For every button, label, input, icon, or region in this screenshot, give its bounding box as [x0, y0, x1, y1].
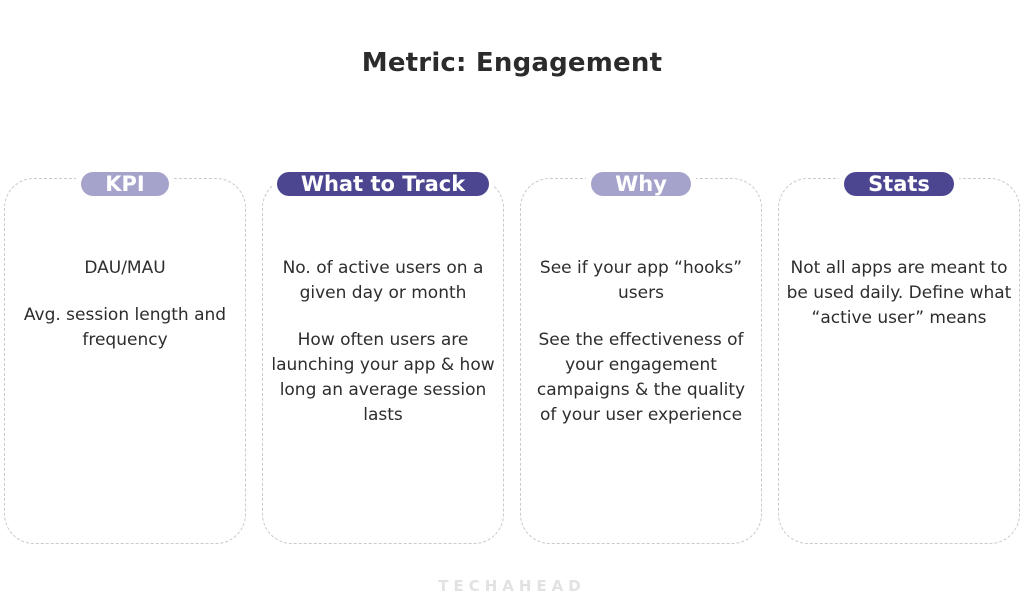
card-body-stats: Not all apps are meant to be used daily.…: [786, 256, 1012, 331]
card-paragraph: See the effectiveness of your engagement…: [528, 328, 754, 428]
card-outline: [778, 178, 1020, 544]
column-header-kpi: KPI: [4, 152, 246, 216]
page-title: Metric: Engagement: [0, 44, 1024, 82]
column-header-label: Stats: [844, 172, 954, 196]
card-body-why: See if your app “hooks” users See the ef…: [528, 256, 754, 428]
column-header-label: KPI: [81, 172, 168, 196]
card-paragraph: Avg. session length and frequency: [12, 303, 238, 353]
card-paragraph: Not all apps are meant to be used daily.…: [786, 256, 1012, 331]
techahead-watermark: TECHAHEAD: [0, 577, 1024, 595]
pill-halo: KPI: [76, 152, 173, 216]
column-header-stats: Stats: [778, 152, 1020, 216]
card-body-kpi: DAU/MAU Avg. session length and frequenc…: [12, 256, 238, 353]
card-outline: [4, 178, 246, 544]
metric-column-what-to-track: What to Track No. of active users on a g…: [262, 178, 504, 544]
pill-halo: Why: [586, 152, 696, 216]
pill-halo: Stats: [839, 152, 959, 216]
card-body-what-to-track: No. of active users on a given day or mo…: [270, 256, 496, 428]
column-header-what-to-track: What to Track: [262, 152, 504, 216]
card-paragraph: No. of active users on a given day or mo…: [270, 256, 496, 306]
column-header-label: What to Track: [277, 172, 489, 196]
column-header-label: Why: [591, 172, 691, 196]
column-header-why: Why: [520, 152, 762, 216]
card-paragraph: How often users are launching your app &…: [270, 328, 496, 428]
pill-halo: What to Track: [272, 152, 494, 216]
metric-column-stats: Stats Not all apps are meant to be used …: [778, 178, 1020, 544]
metric-column-kpi: KPI DAU/MAU Avg. session length and freq…: [4, 178, 246, 544]
card-paragraph: See if your app “hooks” users: [528, 256, 754, 306]
card-paragraph: DAU/MAU: [12, 256, 238, 281]
metric-column-why: Why See if your app “hooks” users See th…: [520, 178, 762, 544]
metric-columns: KPI DAU/MAU Avg. session length and freq…: [4, 178, 1020, 544]
